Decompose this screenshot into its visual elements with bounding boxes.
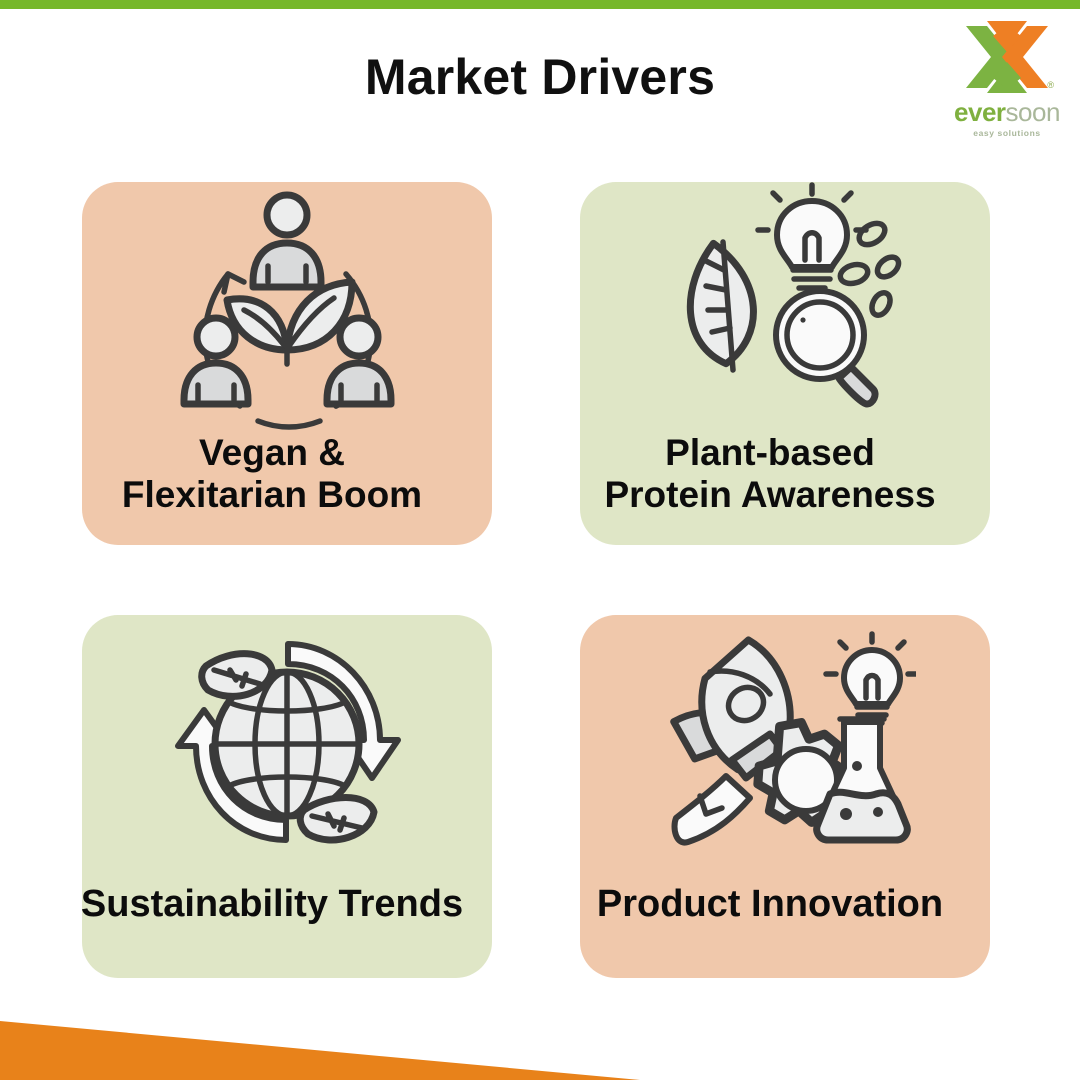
card-label: Product Innovation [535,883,1005,926]
page-title: Market Drivers [0,48,1080,106]
card-sustainability-trends[interactable]: Sustainability Trends [82,615,492,978]
card-plant-based-protein-awareness[interactable]: Plant-based Protein Awareness [580,182,990,545]
top-green-bar [0,0,1080,9]
market-drivers-grid: Vegan & Flexitarian Boom [82,182,990,982]
rocket-gear-bulb-flask-icon [580,615,990,883]
card-vegan-flexitarian-boom[interactable]: Vegan & Flexitarian Boom [82,182,492,545]
leaf-bulb-magnifier-seeds-icon [580,182,990,432]
brand-tagline: easy solutions [952,128,1062,138]
card-label: Plant-based Protein Awareness [535,432,1005,516]
card-label: Sustainability Trends [37,883,507,926]
globe-recycle-leaves-icon [82,615,492,883]
card-label: Vegan & Flexitarian Boom [37,432,507,516]
people-around-plant-cycle-icon [82,182,492,432]
card-product-innovation[interactable]: Product Innovation [580,615,990,978]
bottom-orange-wedge [0,988,640,1080]
